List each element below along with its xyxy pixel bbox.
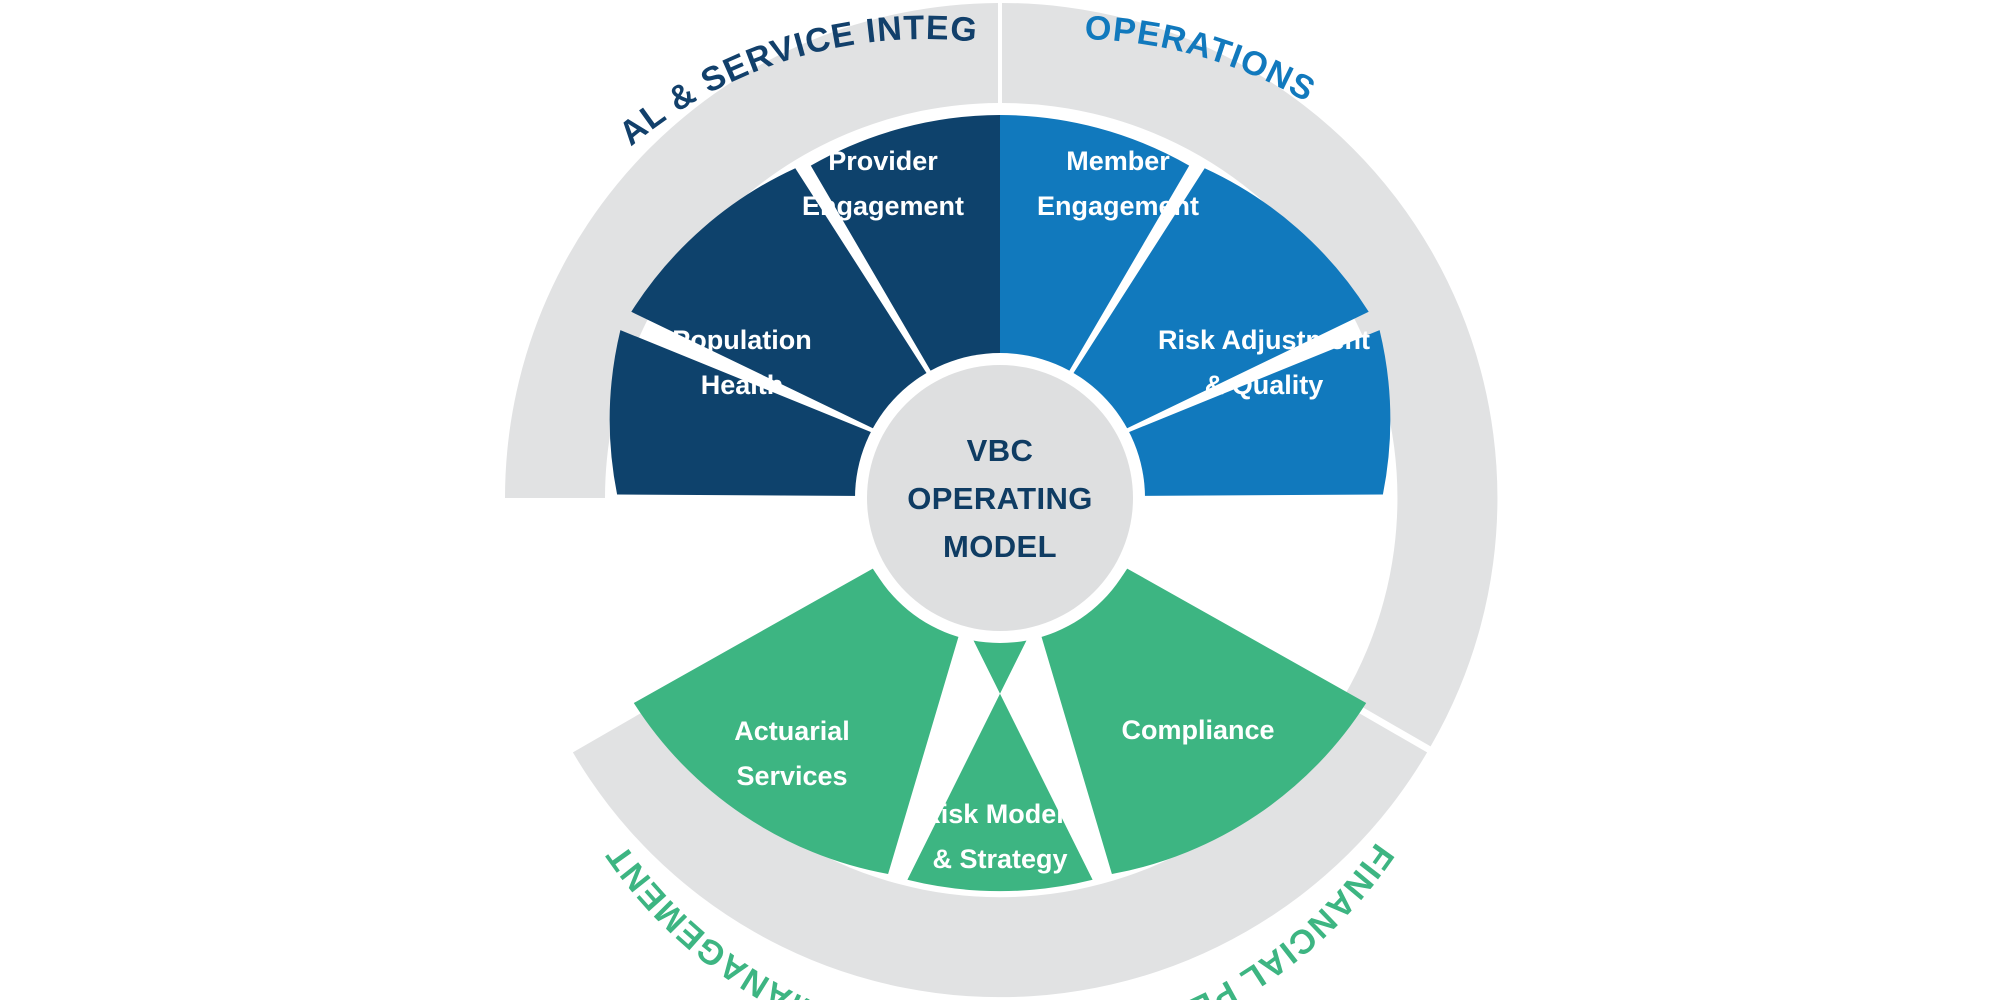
label-line: Provider: [828, 146, 938, 176]
hub-line-3: MODEL: [943, 529, 1057, 564]
label-line: Analytics &: [1211, 501, 1358, 531]
vbc-operating-model-wheel: VBC OPERATING MODEL Provider Engagement …: [0, 0, 2000, 1000]
label-analytics-technology: Analytics & Technology: [1210, 501, 1360, 576]
hub-line-1: VBC: [967, 433, 1034, 468]
label-line: Actuarial: [734, 716, 850, 746]
label-line: Risk Adjustment: [1158, 325, 1370, 355]
label-line: Engagement: [802, 191, 964, 221]
label-line: Services: [736, 761, 847, 791]
hub-line-2: OPERATING: [907, 481, 1093, 516]
label-line: Compliance: [1121, 715, 1274, 745]
label-line: Risk Models: [921, 799, 1079, 829]
label-line: Management: [633, 540, 798, 570]
label-compliance: Compliance: [1121, 715, 1274, 745]
label-line: Member: [1066, 146, 1170, 176]
label-provider-network-management: Provider Network Management: [604, 495, 829, 570]
label-line: Health: [701, 370, 784, 400]
label-line: Technology: [1210, 546, 1360, 576]
label-line: Engagement: [1037, 191, 1199, 221]
label-line: Population: [672, 325, 811, 355]
diagram-canvas: VBC OPERATING MODEL Provider Engagement …: [0, 0, 2000, 1000]
label-line: & Quality: [1205, 370, 1324, 400]
center-hub[interactable]: VBC OPERATING MODEL: [855, 353, 1145, 643]
label-line: Provider Network: [604, 495, 829, 525]
label-line: & Strategy: [932, 844, 1067, 874]
